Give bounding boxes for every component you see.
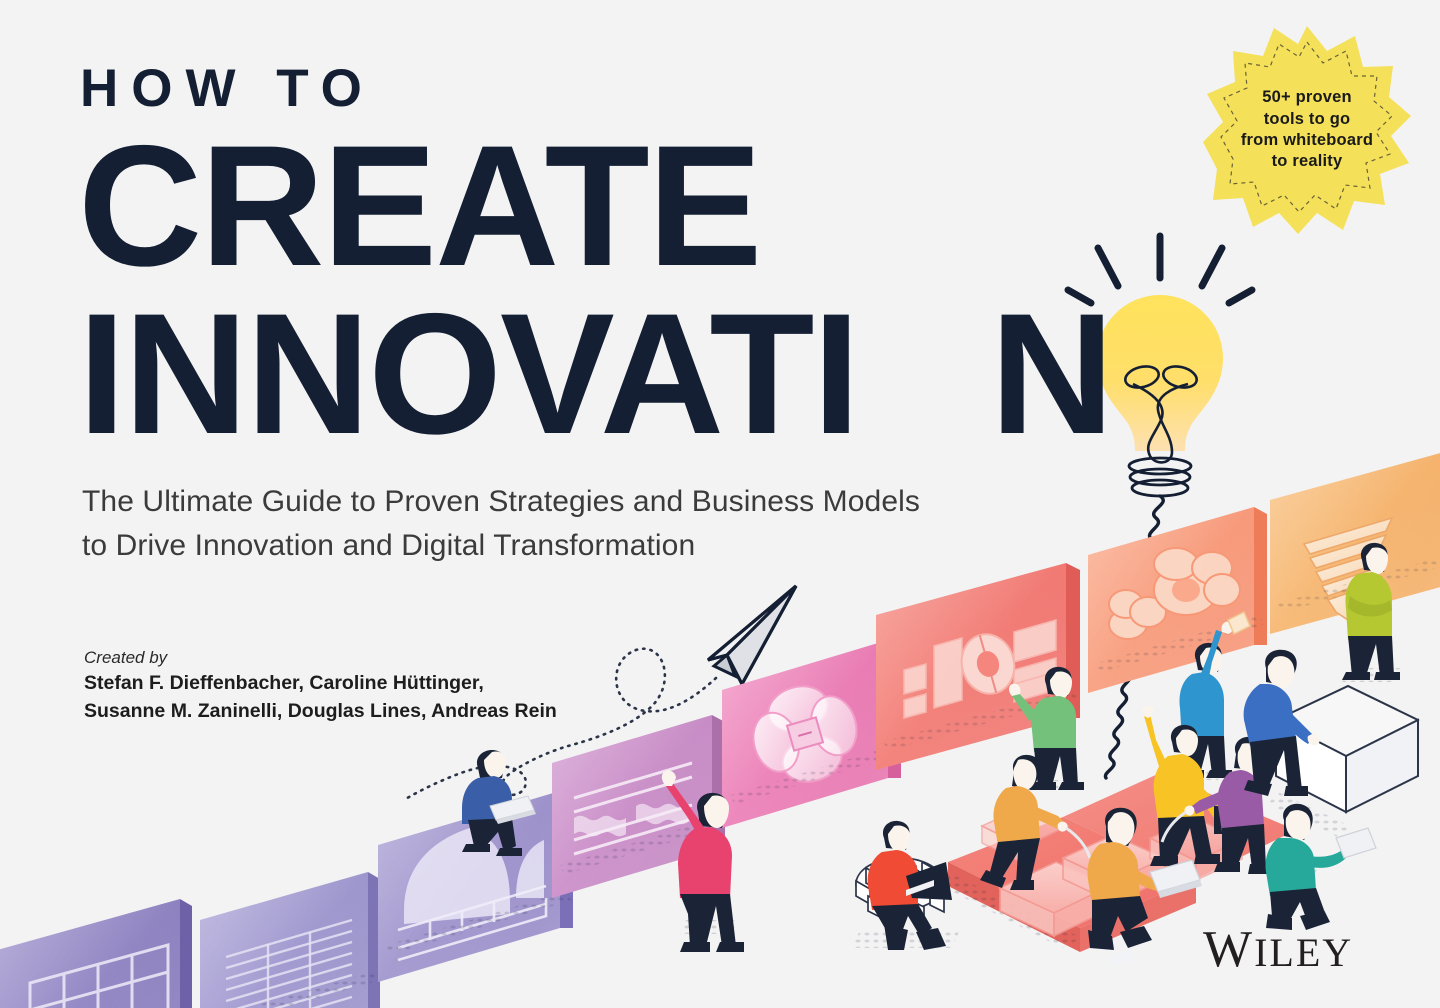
authors-block: Stefan F. Dieffenbacher, Caroline Hüttin… (84, 670, 557, 725)
authors-line-2: Susanne M. Zaninelli, Douglas Lines, And… (84, 698, 557, 726)
title-bulb-letter-placeholder: O (858, 278, 990, 470)
created-by-label: Created by (84, 648, 167, 668)
wiley-rest: ILEY (1254, 930, 1353, 975)
paper-plane-icon (708, 586, 796, 684)
promo-badge-text: 50+ proven tools to go from whiteboard t… (1203, 24, 1411, 236)
kicker-how-to: HOW TO (80, 62, 375, 115)
publisher-logo-wiley: WILEY (1203, 920, 1353, 979)
promo-badge: 50+ proven tools to go from whiteboard t… (1203, 24, 1411, 236)
title-n: N (990, 278, 1112, 470)
title-innovati: INNOVATI (78, 278, 858, 470)
card-cloud-cluster (1088, 507, 1267, 693)
title-line-innovation: INNOVATION (78, 288, 1112, 460)
subtitle-line-2: to Drive Innovation and Digital Transfor… (82, 524, 920, 568)
subtitle-line-1: The Ultimate Guide to Proven Strategies … (82, 480, 920, 524)
lightbulb-icon (1097, 295, 1223, 496)
badge-line-4: to reality (1272, 151, 1343, 172)
book-cover: 50+ proven tools to go from whiteboard t… (0, 0, 1440, 1008)
wiley-initial: W (1203, 921, 1254, 978)
badge-line-2: tools to go (1264, 109, 1351, 130)
card-business-model-canvas-grid (0, 899, 192, 1008)
card-list-rows-table (200, 872, 380, 1008)
badge-line-1: 50+ proven (1262, 87, 1352, 108)
authors-line-1: Stefan F. Dieffenbacher, Caroline Hüttin… (84, 670, 557, 698)
badge-line-3: from whiteboard (1241, 130, 1373, 151)
title-line-create: CREATE (78, 120, 760, 292)
subtitle: The Ultimate Guide to Proven Strategies … (82, 480, 920, 567)
